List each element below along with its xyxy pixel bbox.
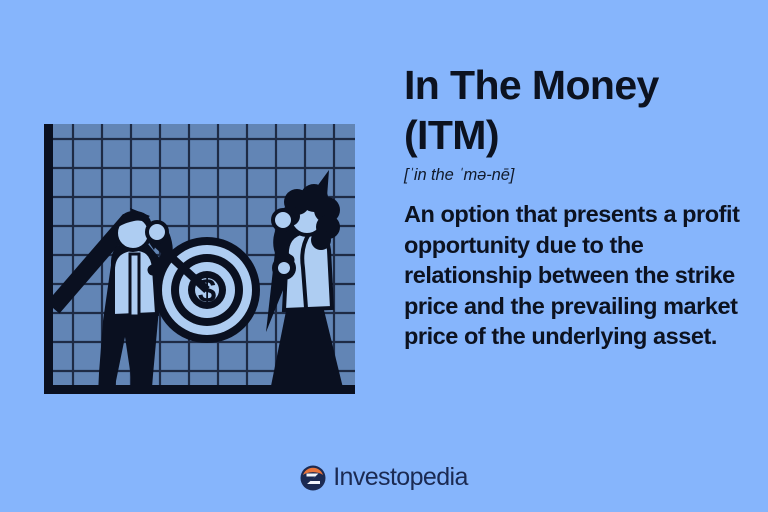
definition-text: An option that presents a profit opportu… <box>404 199 740 352</box>
svg-text:$: $ <box>198 272 216 309</box>
investopedia-logo: Investopedia <box>0 463 768 492</box>
stock-chart-illustration: $ <box>33 120 359 400</box>
pronunciation-text: [ˈin the ˈmə-nē] <box>404 166 740 185</box>
definition-text-column: In The Money (ITM) [ˈin the ˈmə-nē] An o… <box>404 60 740 352</box>
definition-card: $ <box>0 0 768 512</box>
investopedia-logo-icon <box>300 465 326 491</box>
investopedia-logo-text: Investopedia <box>333 463 468 492</box>
page-title: In The Money (ITM) <box>404 60 740 160</box>
